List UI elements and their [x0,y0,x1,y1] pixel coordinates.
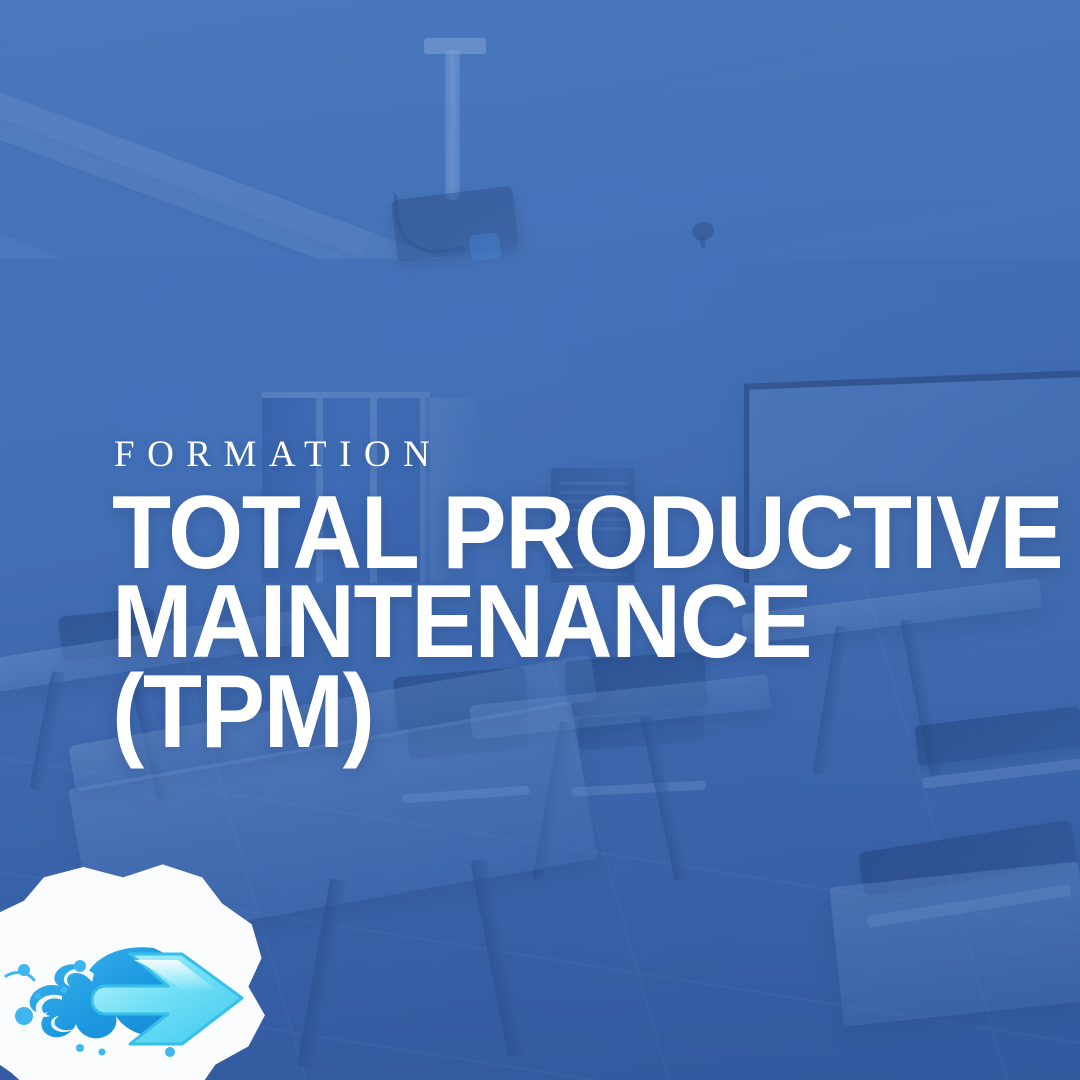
poster-canvas: FORMATION TOTAL PRODUCTIVE MAINTENANCE (… [0,0,1080,1080]
text-block: FORMATION TOTAL PRODUCTIVE MAINTENANCE (… [112,436,1012,757]
title-line-3: (TPM) [112,668,949,757]
page-title: TOTAL PRODUCTIVE MAINTENANCE (TPM) [112,489,949,757]
brand-logo[interactable] [0,854,288,1080]
eyebrow-label: FORMATION [114,436,1012,473]
arrow-right-flame-icon [2,940,252,1058]
